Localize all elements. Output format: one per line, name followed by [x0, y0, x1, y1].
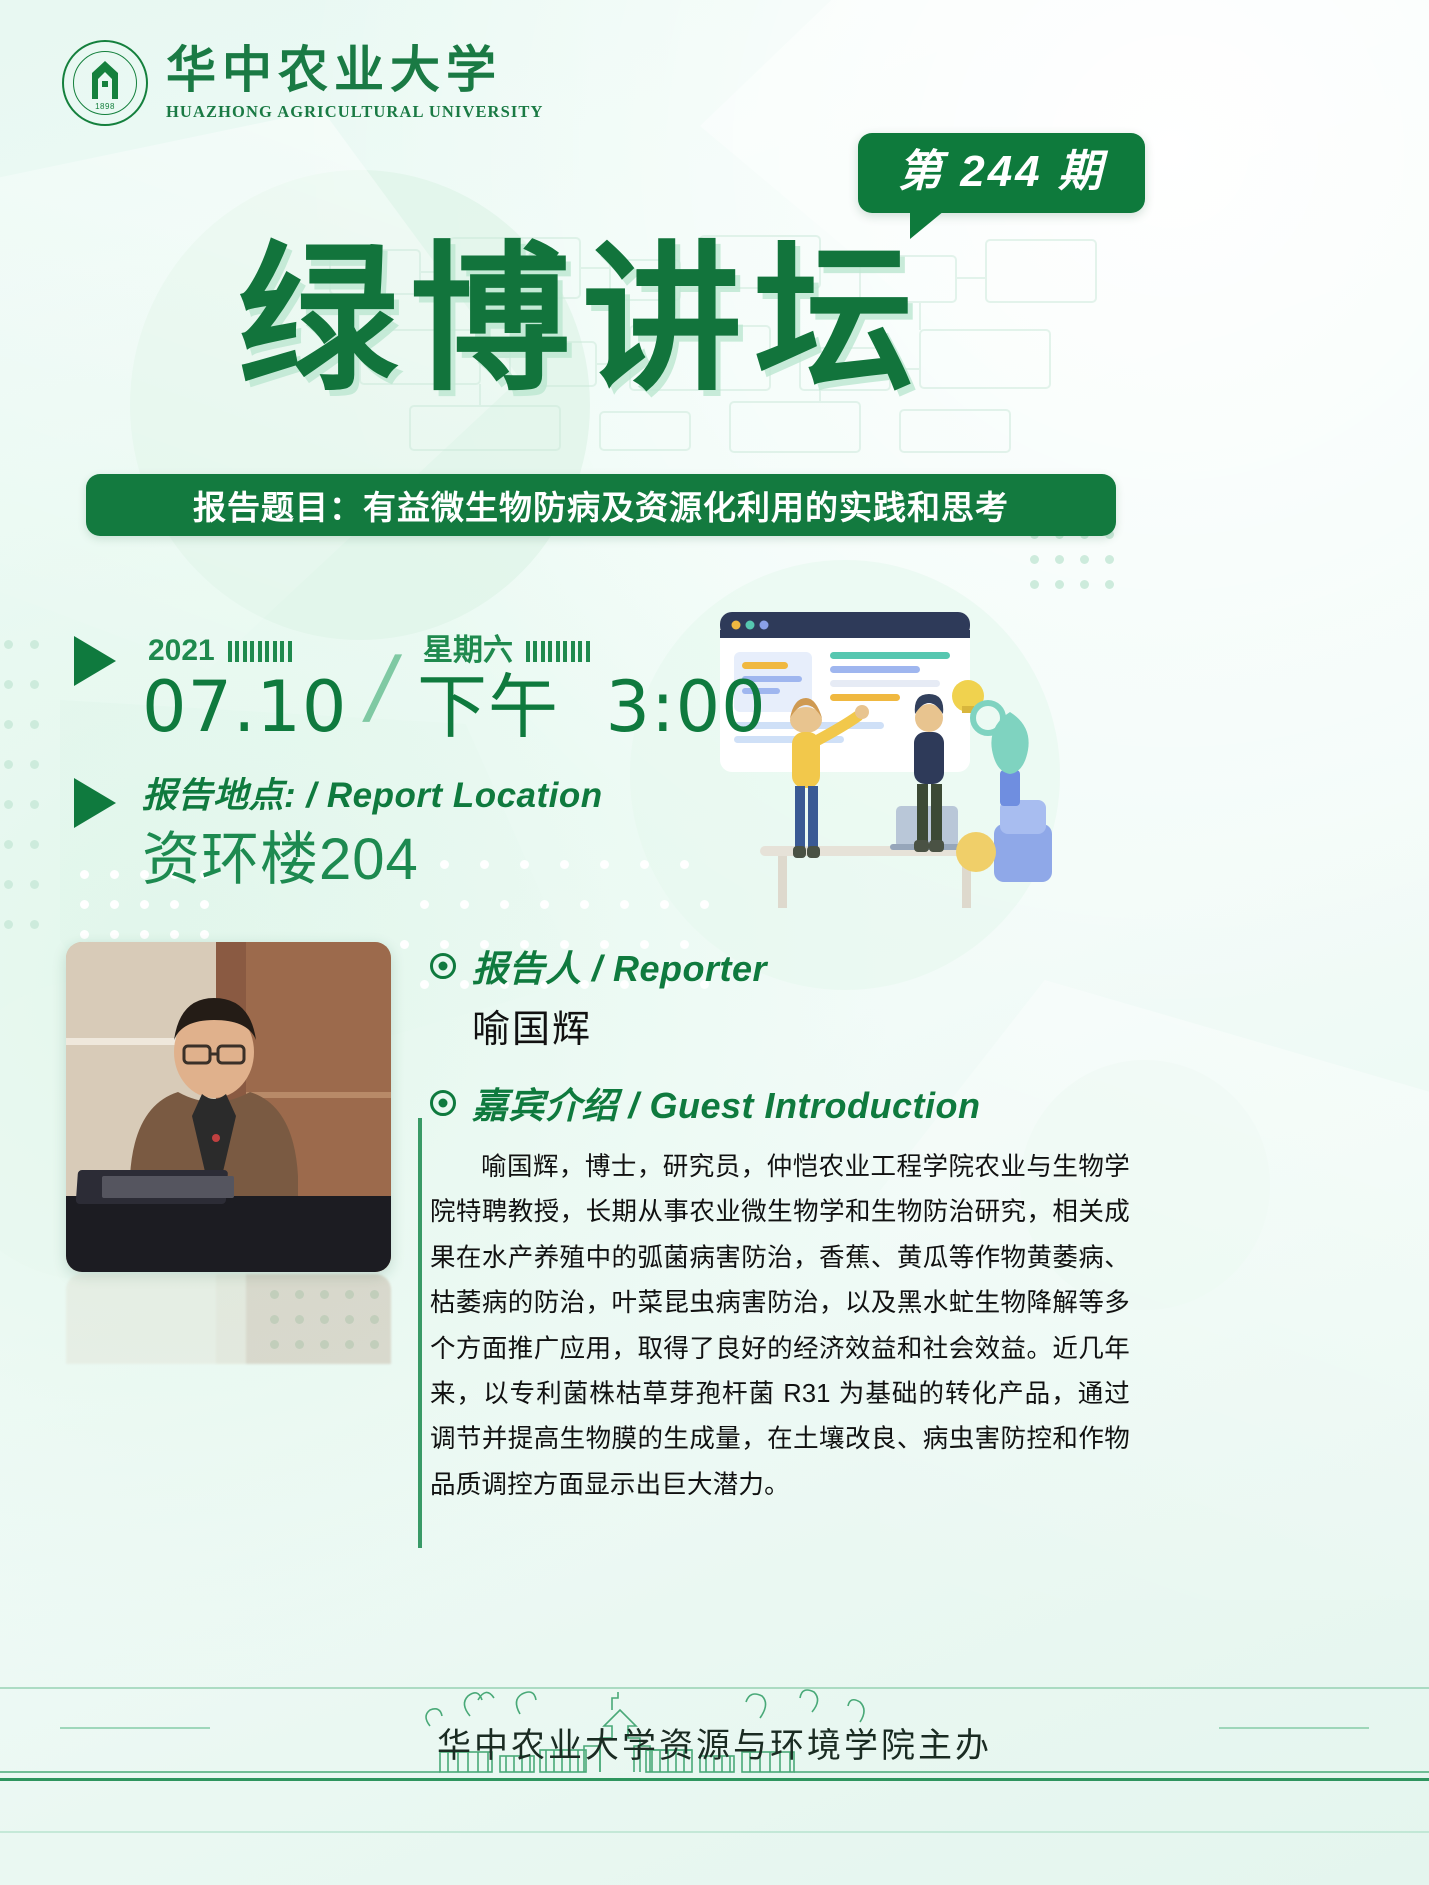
schedule-separator: / [360, 644, 405, 736]
issue-badge: 第 244 期 [858, 133, 1145, 213]
year-label: 2021 [148, 636, 215, 666]
reporter-heading-row: 报告人 / Reporter [430, 940, 1130, 992]
reporter-name: 喻国辉 [472, 998, 1130, 1053]
university-logo: 1898 华中农业大学 HUAZHONG AGRICULTURAL UNIVER… [62, 40, 544, 126]
university-name-en: HUAZHONG AGRICULTURAL UNIVERSITY [166, 102, 544, 122]
target-dot-icon [430, 1090, 456, 1116]
portrait-reflection [66, 1274, 391, 1364]
time-period-label: 下午 [417, 666, 559, 748]
triangle-play-icon [74, 778, 116, 828]
issue-badge-label: 第 244 期 [898, 150, 1105, 194]
university-seal-icon: 1898 [62, 40, 148, 126]
bars-decoration-icon [228, 641, 292, 662]
seal-emblem-icon [82, 59, 128, 101]
footer: 华中农业大学资源与环境学院主办 [0, 1718, 1429, 1767]
guest-heading-row: 嘉宾介绍 / Guest Introduction [430, 1077, 1130, 1129]
dot-grid-decoration [1030, 530, 1130, 600]
university-name-cn: 华中农业大学 [166, 45, 544, 95]
topic-bar: 报告题目：有益微生物防病及资源化利用的实践和思考 [86, 474, 1116, 536]
weekday-line: 星期六 [417, 636, 767, 666]
portrait-photo [66, 942, 391, 1272]
info-column: 报告人 / Reporter 喻国辉 嘉宾介绍 / Guest Introduc… [430, 940, 1130, 1508]
schedule-block: 2021 07.10 / 星期六 下午 3:00 [74, 636, 767, 742]
speaker-portrait [66, 942, 391, 1272]
target-dot-icon [430, 953, 456, 979]
date-value: 07.10 [142, 672, 347, 742]
info-divider [418, 1118, 422, 1548]
seal-year: 1898 [95, 102, 115, 111]
location-heading: 报告地点: / Report Location [142, 778, 603, 813]
footer-rule-main [0, 1778, 1429, 1781]
guest-introduction-body: 喻国辉，博士，研究员，仲恺农业工程学院农业与生物学院特聘教授，长期从事农业微生物… [430, 1145, 1130, 1508]
portrait-reflection-image [66, 1274, 391, 1364]
triangle-play-icon [74, 636, 116, 686]
footer-rule-top [0, 1687, 1429, 1689]
location-block: 报告地点: / Report Location 资环楼204 [74, 778, 603, 889]
reporter-heading: 报告人 / Reporter [472, 940, 767, 992]
weekday-label: 星期六 [423, 636, 513, 666]
footer-organizer: 华中农业大学资源与环境学院主办 [0, 1718, 1429, 1767]
bars-decoration-icon [526, 641, 590, 662]
page-title: 绿博讲坛 [238, 236, 926, 404]
time-value: 下午 3:00 [417, 672, 767, 742]
year-line: 2021 [142, 636, 347, 666]
footer-rule-bottom [0, 1831, 1429, 1833]
time-clock-label: 3:00 [605, 666, 766, 748]
poster-canvas: 1898 华中农业大学 HUAZHONG AGRICULTURAL UNIVER… [0, 0, 1429, 1885]
guest-heading: 嘉宾介绍 / Guest Introduction [472, 1077, 981, 1129]
topic-label: 报告题目：有益微生物防病及资源化利用的实践和思考 [193, 481, 1009, 529]
date-column: 2021 07.10 [142, 636, 347, 742]
location-value: 资环楼204 [142, 831, 603, 889]
dot-grid-decoration [0, 640, 60, 1040]
time-column: 星期六 下午 3:00 [417, 636, 767, 742]
